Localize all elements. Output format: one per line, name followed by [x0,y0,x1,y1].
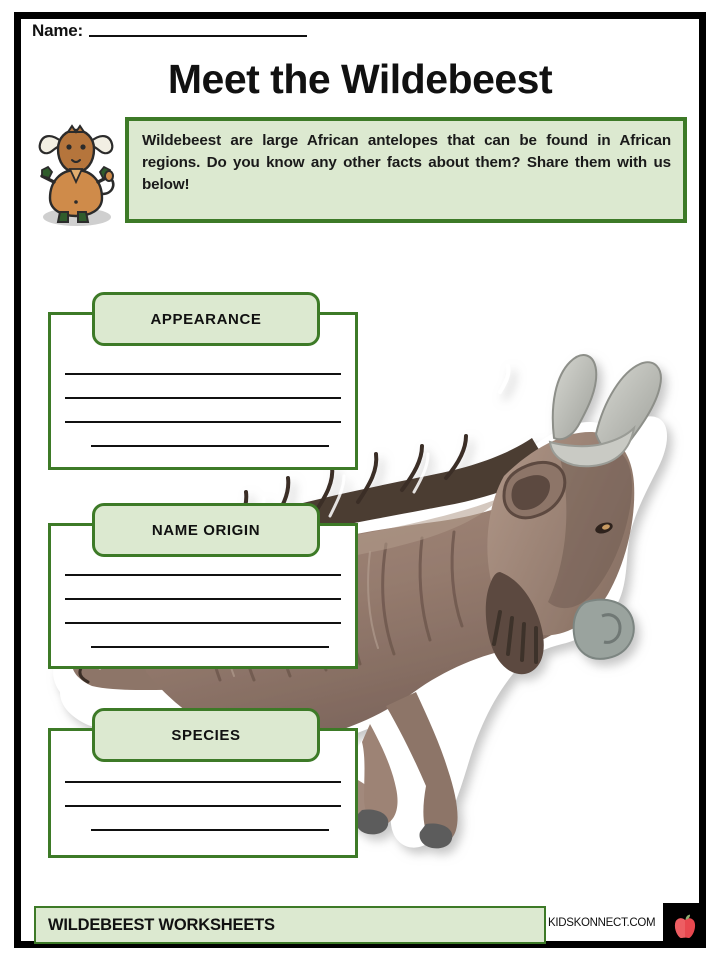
page-title: Meet the Wildebeest [0,58,720,101]
section-header-name-origin: NAME ORIGIN [92,503,320,557]
writing-line[interactable] [65,622,341,624]
section-header-appearance: APPEARANCE [92,292,320,346]
footer-title: WILDEBEEST WORKSHEETS [48,916,275,935]
section-label: NAME ORIGIN [152,522,260,539]
writing-line[interactable] [65,805,341,807]
writing-line[interactable] [65,598,341,600]
section-header-species: SPECIES [92,708,320,762]
name-label: Name: [32,22,83,39]
intro-section: Wildebeest are large African antelopes t… [30,114,690,236]
writing-lines-appearance[interactable] [51,373,355,469]
intro-textbox: Wildebeest are large African antelopes t… [125,117,687,223]
intro-text: Wildebeest are large African antelopes t… [142,130,671,196]
writing-line[interactable] [65,421,341,423]
writing-line[interactable] [91,445,329,447]
writing-line[interactable] [65,397,341,399]
writing-lines-species[interactable] [51,781,355,853]
cartoon-wildebeest-mascot-icon [30,116,122,228]
writing-line[interactable] [65,781,341,783]
writing-line[interactable] [91,829,329,831]
writing-line[interactable] [65,574,341,576]
footer-url: KIDSKONNECT.COM [548,917,655,929]
red-apple-logo-icon [673,914,697,940]
writing-lines-name-origin[interactable] [51,574,355,670]
name-field[interactable]: Name: [32,22,307,39]
section-label: APPEARANCE [150,311,261,328]
name-input-line[interactable] [89,35,307,37]
section-label: SPECIES [171,727,240,744]
footer-bar: WILDEBEEST WORKSHEETS [34,906,546,944]
worksheet-page: Name: Meet the Wildebeest [0,0,720,960]
writing-line[interactable] [65,373,341,375]
writing-line[interactable] [91,646,329,648]
